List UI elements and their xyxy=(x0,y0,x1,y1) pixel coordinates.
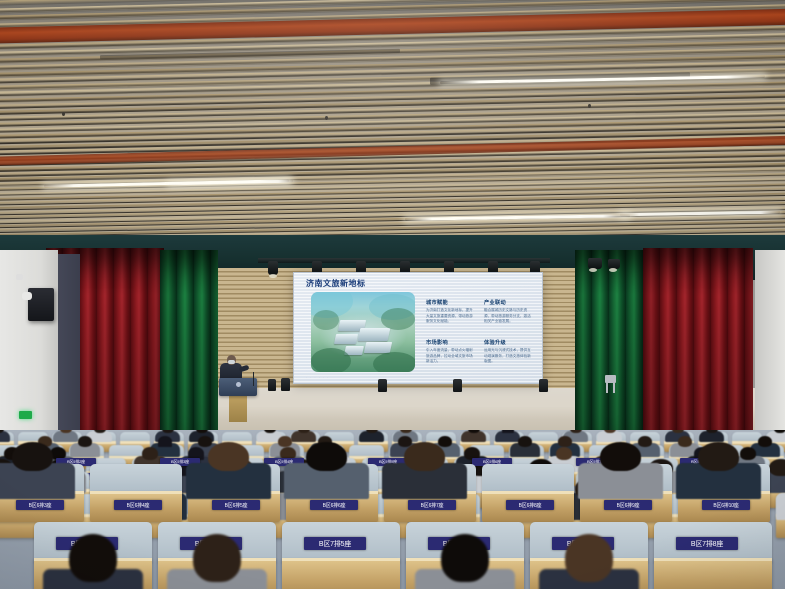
seat-rim xyxy=(282,558,400,561)
audience-head xyxy=(758,436,772,447)
audience-head xyxy=(518,436,532,447)
microphone-stand-icon xyxy=(253,372,254,386)
exit-sign-icon xyxy=(19,411,32,419)
loudspeaker-icon xyxy=(28,288,54,321)
seat-number-tag: B区7排8座 xyxy=(676,537,738,550)
auditorium-seat[interactable] xyxy=(482,464,574,522)
projection-screen[interactable]: 济南文旅新地标 城市赋能 为济南打造文化新地标，提升大量文旅重要资源，带动旅游服… xyxy=(293,272,543,384)
seat-backrest xyxy=(90,464,182,494)
slide-aerial-render xyxy=(311,292,415,372)
slide-heading-1: 产业联动 xyxy=(484,299,506,306)
audience-head xyxy=(638,436,652,447)
seat-number-tag: B区6排9座 xyxy=(604,500,652,510)
curtain-red-right xyxy=(643,248,753,440)
seat-number-tag: B区6排6座 xyxy=(310,500,358,510)
seat-rim xyxy=(120,441,150,444)
auditorium-seat[interactable] xyxy=(654,522,772,589)
slide-body-2: 引入年度流量，带动点火辐射旅游品牌，拉动全域文旅市场新活力。 xyxy=(426,348,474,365)
slide-title: 济南文旅新地标 xyxy=(306,278,366,289)
floor-monitor-speaker xyxy=(268,379,276,391)
floor-monitor-speaker xyxy=(281,378,290,391)
audience-head-with-cap xyxy=(158,436,172,447)
audience-head xyxy=(769,459,785,476)
slide-heading-0: 城市赋能 xyxy=(426,299,448,306)
ceiling-fixture-dot xyxy=(588,104,591,108)
slide-footer: · · · · · · xyxy=(306,375,329,379)
slatted-wood-ceiling xyxy=(0,0,785,268)
audience-head xyxy=(198,436,212,447)
audience-torso xyxy=(776,493,785,519)
stage-light-par xyxy=(268,261,278,275)
curtain-green-right xyxy=(575,250,645,430)
right-wall-column xyxy=(755,250,785,442)
slide-body-1: 融合展城历史文脉与历史资源，带动旅游服务分支，激活相关产业链发展。 xyxy=(484,308,532,325)
audience-head xyxy=(193,534,240,582)
audience-head xyxy=(600,442,640,471)
audience-head xyxy=(678,436,692,447)
seat-wood-panel xyxy=(282,559,400,589)
stage-light-side xyxy=(588,258,602,269)
seat-number-tag: B区6排7座 xyxy=(408,500,456,510)
floor-monitor-speaker xyxy=(378,379,387,392)
floor-monitor-speaker xyxy=(539,379,548,392)
auditorium-seat[interactable] xyxy=(90,464,182,522)
podium xyxy=(219,378,257,396)
audience-head xyxy=(306,442,346,471)
audience-head-with-cap xyxy=(502,430,514,433)
seat-number-tag: B区6排4座 xyxy=(114,500,162,510)
audience-head xyxy=(404,442,444,471)
slide-body-0: 为济南打造文化新地标，提升大量文旅重要资源，带动旅游服务文化赋能。 xyxy=(426,308,474,325)
auditorium-seat[interactable] xyxy=(282,522,400,589)
audience-head xyxy=(565,534,612,582)
folding-chair xyxy=(605,375,616,393)
audience-head xyxy=(142,447,158,460)
seat-backrest xyxy=(482,464,574,494)
audience-head xyxy=(698,442,738,471)
seat-number-tag: B区6排3座 xyxy=(16,500,64,510)
camera-icon-2 xyxy=(16,274,23,280)
seat-number-tag: B区6排5座 xyxy=(212,500,260,510)
seat-number-tag: B区7排5座 xyxy=(304,537,366,550)
slide-body-3: 运用光与沉浸式技术，提供互动观演服务，打造文旅体验新版图。 xyxy=(484,348,532,365)
slide-heading-3: 体验升级 xyxy=(484,339,506,346)
audience-head xyxy=(278,436,292,447)
podium-base xyxy=(229,392,247,422)
audience-seating-area: B区4排3座B区4排5座B区4排7座B区5排2座B区5排3座B区5排4座B区5排… xyxy=(0,430,785,589)
ceiling-fixture-dot xyxy=(325,116,328,120)
audience-head xyxy=(441,534,488,582)
face-mask-icon xyxy=(228,360,235,364)
audience-head xyxy=(438,436,452,447)
audience-head xyxy=(78,436,92,447)
audience-head xyxy=(740,447,756,460)
seat-rim xyxy=(482,491,574,494)
floor-monitor-speaker xyxy=(453,379,462,392)
curtain-green-left xyxy=(160,250,218,432)
audience-head xyxy=(558,436,572,447)
seat-rim xyxy=(654,558,772,561)
audience-head xyxy=(208,442,248,471)
ceiling-fixture-dot xyxy=(62,112,65,116)
seat-number-tag: B区6排10座 xyxy=(702,500,750,510)
audience-head xyxy=(12,442,52,471)
slide-heading-2: 市场影响 xyxy=(426,339,448,346)
audience-head xyxy=(69,534,116,582)
seat-number-tag: B区6排8座 xyxy=(506,500,554,510)
auditorium-photo: 济南文旅新地标 城市赋能 为济南打造文化新地标，提升大量文旅重要资源，带动旅游服… xyxy=(0,0,785,589)
podium-emblem-icon xyxy=(236,382,241,387)
stage-light-side xyxy=(608,259,620,269)
audience-head xyxy=(556,447,572,460)
camera-icon xyxy=(22,292,32,300)
seat-rim xyxy=(90,491,182,494)
seat-wood-panel xyxy=(654,559,772,589)
